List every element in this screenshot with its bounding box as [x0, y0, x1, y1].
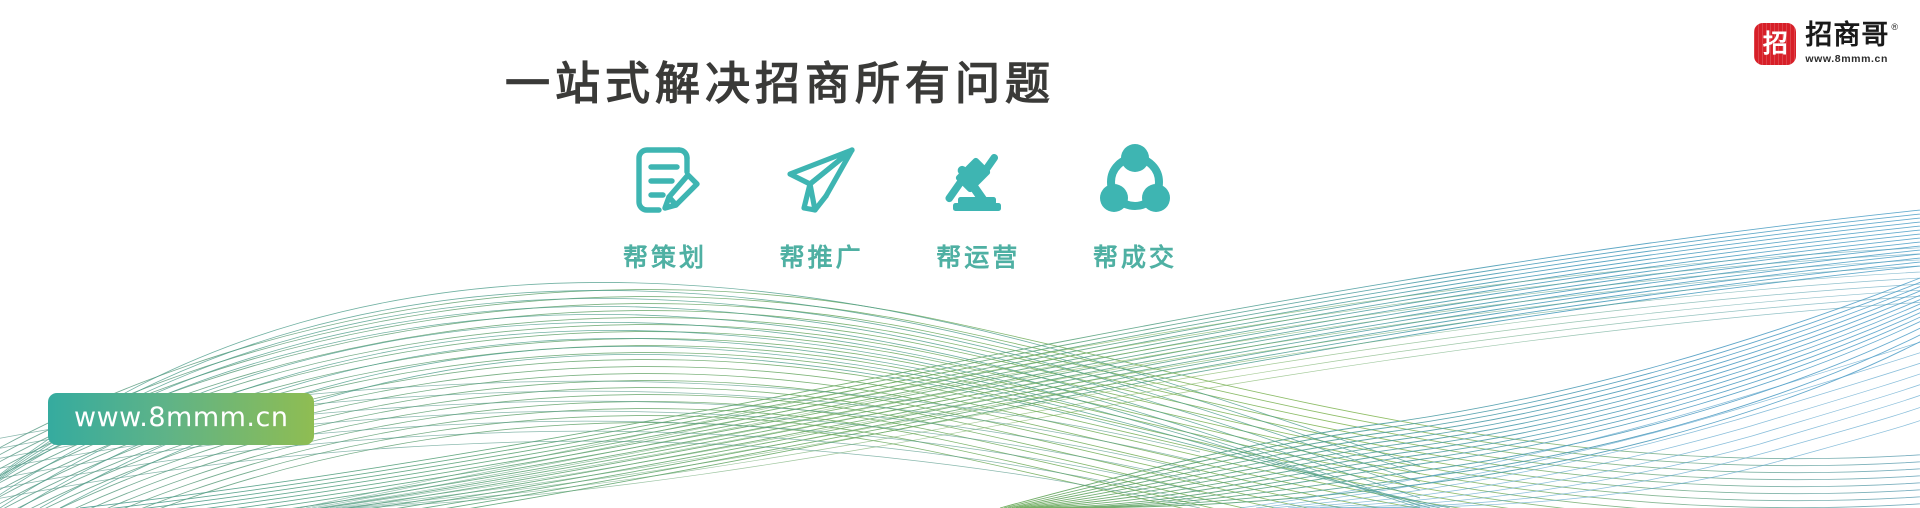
feature-list: 帮策划 帮推广 — [600, 140, 1200, 274]
logo-mark-char: 招 — [1763, 31, 1788, 56]
feature-item-operations[interactable]: 帮运营 — [913, 140, 1043, 274]
registered-trademark-icon: ® — [1891, 23, 1898, 32]
network-nodes-icon — [1097, 140, 1173, 218]
paper-plane-icon — [784, 140, 860, 218]
gavel-icon — [940, 140, 1016, 218]
headline: 一站式解决招商所有问题 — [0, 58, 1560, 110]
logo-url: www.8mmm.cn — [1805, 53, 1898, 65]
promo-banner: 招 招商哥 ® www.8mmm.cn 一站式解决招商所有问题 — [0, 0, 1920, 508]
website-url-badge[interactable]: www.8mmm.cn — [48, 393, 314, 445]
feature-item-closing[interactable]: 帮成交 — [1070, 140, 1200, 274]
feature-item-promotion[interactable]: 帮推广 — [757, 140, 887, 274]
feature-label: 帮推广 — [780, 238, 864, 274]
feature-label: 帮运营 — [936, 238, 1020, 274]
feature-label: 帮策划 — [623, 238, 707, 274]
brand-logo[interactable]: 招 招商哥 ® www.8mmm.cn — [1754, 22, 1898, 65]
logo-mark-icon: 招 — [1754, 23, 1796, 65]
feature-item-planning[interactable]: 帮策划 — [600, 140, 730, 274]
logo-wordmark-row: 招商哥 ® — [1805, 22, 1898, 49]
feature-label: 帮成交 — [1093, 238, 1177, 274]
document-pencil-icon — [627, 140, 703, 218]
logo-text-block: 招商哥 ® www.8mmm.cn — [1805, 22, 1898, 65]
logo-wordmark: 招商哥 — [1805, 22, 1889, 49]
